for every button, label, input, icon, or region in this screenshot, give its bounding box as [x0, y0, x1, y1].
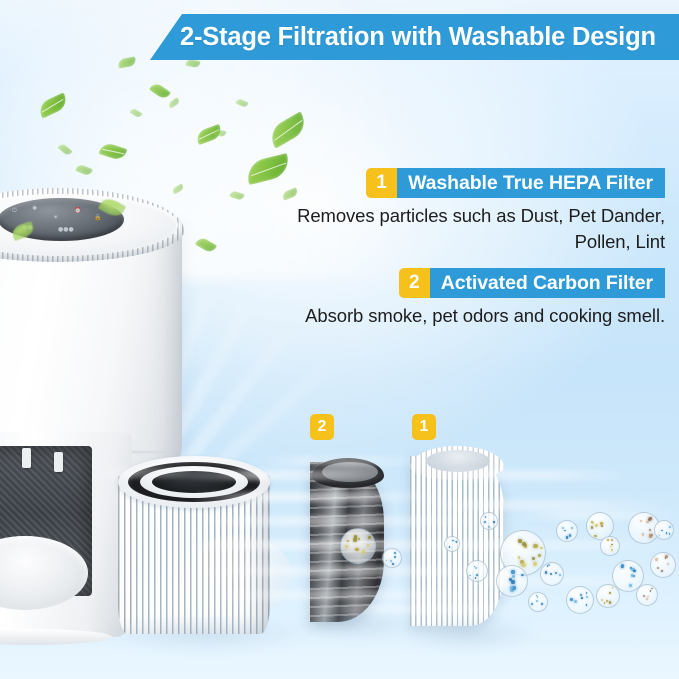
feature-block-2: 2 Activated Carbon Filter Absorb smoke, … [235, 268, 665, 329]
particle-dot [669, 526, 671, 528]
particle-dot [651, 588, 653, 590]
particle-dot [661, 530, 663, 532]
particle-bubble [636, 584, 658, 606]
title-banner: 2-Stage Filtration with Washable Design [150, 14, 679, 60]
particle-dot [367, 544, 369, 546]
particle-dot [592, 522, 594, 524]
particle-dot [521, 574, 524, 577]
particle-dot [358, 538, 360, 540]
diagram-marker-2: 2 [310, 414, 334, 440]
particle-dot [659, 535, 661, 537]
particle-dot [609, 601, 612, 604]
particle-dot [564, 530, 566, 532]
carbon-sheet-top-inner [322, 462, 378, 482]
particle-dot [646, 521, 649, 524]
particle-bubble [496, 565, 528, 597]
particle-dot [633, 570, 635, 572]
particle-bubble [556, 520, 578, 542]
particle-dot [484, 521, 486, 523]
compartment-clip [54, 452, 63, 472]
particle-dot [562, 527, 564, 529]
feature-2-description: Absorb smoke, pet odors and cooking smel… [235, 303, 665, 329]
particle-dot [595, 524, 598, 527]
particle-dot [475, 567, 477, 569]
particle-dot [571, 527, 573, 529]
feature-2-title: Activated Carbon Filter [430, 268, 665, 298]
particle-dot [533, 544, 537, 548]
particle-dot [655, 558, 658, 561]
particle-dot [362, 550, 366, 554]
particle-dot [586, 604, 588, 606]
compartment-clip [22, 448, 31, 468]
particle-dot [394, 556, 396, 558]
particle-dot [493, 521, 495, 523]
particle-dot [669, 533, 671, 535]
particle-dot [666, 532, 668, 534]
particle-dot [548, 564, 550, 566]
particle-bubble [480, 512, 498, 530]
particle-dot [649, 534, 652, 537]
particle-bubble [600, 536, 620, 556]
particle-dot [650, 590, 652, 592]
particle-bubble [650, 552, 676, 578]
particle-dot [611, 539, 613, 541]
particle-dot [345, 545, 349, 549]
particle-dot [533, 562, 537, 566]
particle-dot [394, 552, 396, 554]
particle-dot [469, 575, 471, 577]
particle-dot [604, 602, 606, 604]
particle-dot [609, 592, 611, 594]
particle-dot [647, 596, 649, 598]
particle-dot [574, 600, 577, 603]
particle-dot [476, 574, 478, 576]
particle-dot [581, 597, 583, 599]
particle-bubble [540, 562, 564, 586]
particle-dot [347, 540, 350, 543]
particle-dot [511, 570, 514, 573]
particle-dot [601, 599, 603, 601]
banner-title: 2-Stage Filtration with Washable Design [180, 14, 675, 60]
particle-dot [531, 603, 533, 605]
particle-bubble [566, 586, 594, 614]
particle-dot [538, 554, 541, 557]
particle-dot [456, 541, 458, 543]
particle-dot [586, 592, 588, 594]
particle-dot [452, 540, 454, 542]
particle-dot [559, 574, 561, 576]
particle-dot [488, 526, 490, 528]
feature-1-description: Removes particles such as Dust, Pet Dand… [235, 203, 665, 255]
particle-dot [569, 534, 571, 536]
particle-dot [629, 584, 632, 587]
particle-dot [545, 571, 548, 574]
feature-block-1: 1 Washable True HEPA Filter Removes part… [235, 168, 665, 255]
particle-dot [646, 598, 648, 600]
particle-dot [518, 539, 522, 543]
particle-dot [354, 535, 358, 539]
particle-dot [521, 563, 526, 568]
particle-dot [621, 564, 625, 568]
particle-dot [611, 549, 613, 551]
particle-dot [649, 529, 651, 531]
particle-dot [566, 536, 568, 538]
particle-bubble [528, 592, 548, 612]
particle-dot [661, 570, 663, 572]
particle-dot [591, 526, 594, 529]
particle-dot [537, 596, 539, 598]
feature-2-heading: 2 Activated Carbon Filter [235, 268, 665, 298]
particle-dot [532, 557, 536, 561]
particle-dot [657, 567, 659, 569]
particle-dot [612, 587, 614, 589]
feature-1-heading: 1 Washable True HEPA Filter [235, 168, 665, 198]
diagram-marker-1: 1 [412, 414, 436, 440]
particle-bubble [654, 520, 674, 540]
particle-dot [555, 572, 557, 574]
particle-dot [355, 548, 358, 551]
particle-dot [550, 573, 552, 575]
ground-shadow [392, 616, 542, 652]
feature-1-number-badge: 1 [366, 168, 397, 198]
particle-dot [368, 536, 371, 539]
particle-dot [541, 603, 543, 605]
particle-dot [518, 556, 521, 559]
particle-dot [600, 522, 603, 525]
particle-dot [485, 516, 487, 518]
particle-dot [386, 560, 388, 562]
particle-dot [667, 563, 669, 565]
particle-dot [392, 563, 394, 565]
filter-center-opening [152, 471, 236, 493]
particle-dot [594, 535, 596, 537]
particle-dot [643, 595, 645, 597]
infographic-canvas: 2-Stage Filtration with Washable Design … [0, 0, 679, 679]
particle-dot [606, 600, 608, 602]
particle-bubble [382, 548, 402, 568]
particle-dot [640, 520, 642, 522]
particle-dot [607, 539, 609, 541]
hepa-top-inner [426, 450, 490, 472]
particle-dot [570, 598, 573, 601]
particle-dot [633, 575, 635, 577]
particle-dot [586, 596, 589, 599]
particle-dot [449, 546, 451, 548]
particle-dot [540, 547, 543, 550]
particle-bubble [466, 560, 488, 582]
particle-dot [642, 533, 645, 536]
particle-dot [475, 577, 477, 579]
particle-dot [536, 600, 538, 602]
particle-dot [580, 594, 582, 596]
particle-bubble [596, 584, 620, 608]
particle-bubble [444, 536, 460, 552]
feature-1-title: Washable True HEPA Filter [397, 168, 665, 198]
particle-bubble [340, 528, 376, 564]
ground-shadow [96, 612, 316, 654]
particle-dot [610, 546, 612, 548]
particle-dot [511, 580, 515, 584]
particle-dot [512, 575, 515, 578]
feature-2-number-badge: 2 [399, 268, 430, 298]
particle-dot [601, 525, 603, 527]
